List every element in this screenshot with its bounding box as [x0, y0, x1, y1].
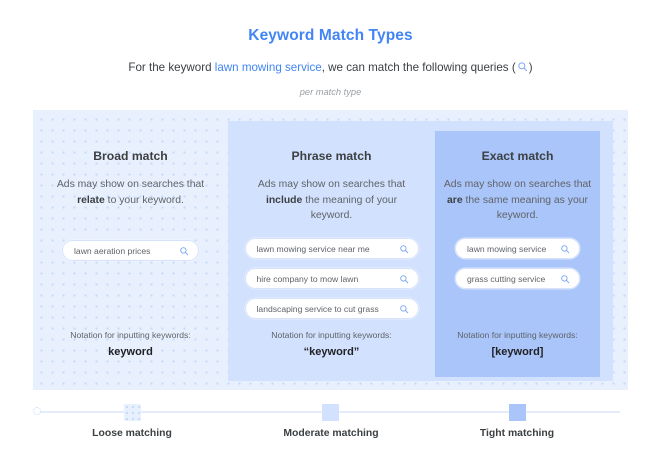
query-pill-text: hire company to mow lawn	[246, 274, 399, 284]
scale-marker-tight[interactable]	[509, 404, 526, 421]
desc-part: the meaning of your keyword.	[302, 195, 397, 222]
query-pill-list-broad: lawn aeration prices	[33, 240, 228, 270]
scale-label-tight: Tight matching	[437, 428, 597, 439]
query-pill[interactable]: landscaping service to cut grass	[245, 298, 419, 319]
query-pill[interactable]: hire company to mow lawn	[245, 268, 419, 289]
desc-emphasis: include	[266, 195, 302, 206]
desc-part: Ads may show on searches that	[57, 179, 204, 190]
desc-part: to your keyword.	[105, 195, 184, 206]
column-title-phrase: Phrase match	[228, 110, 435, 163]
desc-part: Ads may show on searches that	[258, 179, 405, 190]
desc-emphasis: are	[447, 195, 463, 206]
notation-exact: Notation for inputting keywords: [keywor…	[435, 330, 600, 358]
page-header: Keyword Match Types For the keyword lawn…	[0, 0, 661, 97]
notation-phrase: Notation for inputting keywords: “keywor…	[228, 330, 435, 358]
notation-value: keyword	[33, 340, 228, 358]
matching-scale: Loose matching Moderate matching Tight m…	[0, 400, 661, 459]
column-description-exact: Ads may show on searches that are the sa…	[444, 163, 592, 224]
search-icon	[517, 61, 528, 76]
notation-value: [keyword]	[435, 340, 600, 358]
search-icon	[560, 244, 579, 254]
column-description-broad: Ads may show on searches that relate to …	[51, 163, 211, 208]
query-pill-text: landscaping service to cut grass	[246, 304, 399, 314]
search-icon	[560, 274, 579, 284]
scale-label-loose: Loose matching	[52, 428, 212, 439]
notation-label: Notation for inputting keywords:	[33, 330, 228, 340]
notation-label: Notation for inputting keywords:	[435, 330, 600, 340]
query-pill[interactable]: grass cutting service	[455, 268, 580, 289]
scale-marker-loose[interactable]	[124, 404, 141, 421]
column-title-broad: Broad match	[33, 110, 228, 163]
column-phrase-match: Phrase match Ads may show on searches th…	[228, 110, 435, 390]
notation-broad: Notation for inputting keywords: keyword	[33, 330, 228, 358]
page-subtitle: For the keyword lawn mowing service, we …	[0, 45, 661, 76]
column-description-phrase: Ads may show on searches that include th…	[257, 163, 407, 224]
desc-part: the same meaning as your keyword.	[463, 195, 588, 222]
column-exact-match: Exact match Ads may show on searches tha…	[435, 110, 600, 390]
desc-part: Ads may show on searches that	[444, 179, 591, 190]
page-title: Keyword Match Types	[0, 0, 661, 45]
search-icon	[399, 304, 418, 314]
per-match-type-note: per match type	[0, 76, 661, 97]
query-pill-list-exact: lawn mowing service grass cutting servic…	[435, 238, 600, 298]
search-icon	[399, 244, 418, 254]
subtitle-prefix: For the keyword	[128, 61, 214, 74]
query-pill-text: lawn mowing service	[456, 244, 560, 254]
query-pill-text: grass cutting service	[456, 274, 560, 284]
query-pill-list-phrase: lawn mowing service near me hire company…	[228, 238, 435, 328]
scale-endpoint-icon	[33, 407, 41, 415]
query-pill[interactable]: lawn mowing service	[455, 238, 580, 259]
scale-label-moderate: Moderate matching	[251, 428, 411, 439]
subtitle-suffix: , we can match the following queries (	[322, 61, 516, 74]
desc-emphasis: relate	[77, 195, 105, 206]
search-icon	[399, 274, 418, 284]
subtitle-end: )	[529, 61, 533, 74]
column-broad-match: Broad match Ads may show on searches tha…	[33, 110, 228, 390]
search-icon	[179, 246, 198, 256]
query-pill-text: lawn mowing service near me	[246, 244, 399, 254]
column-title-exact: Exact match	[435, 110, 600, 163]
notation-label: Notation for inputting keywords:	[228, 330, 435, 340]
query-pill[interactable]: lawn mowing service near me	[245, 238, 419, 259]
notation-value: “keyword”	[228, 340, 435, 358]
query-pill[interactable]: lawn aeration prices	[62, 240, 199, 261]
scale-marker-moderate[interactable]	[322, 404, 339, 421]
subtitle-keyword: lawn mowing service	[215, 61, 322, 74]
query-pill-text: lawn aeration prices	[63, 246, 179, 256]
